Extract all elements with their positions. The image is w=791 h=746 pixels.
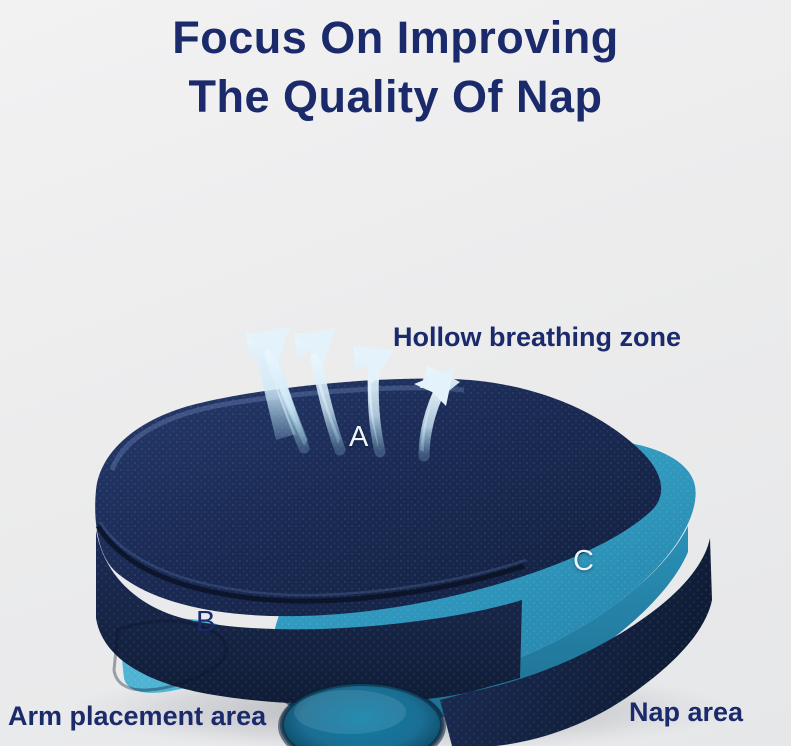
label-arm-placement-area: Arm placement area — [8, 701, 266, 732]
headline-line-1: Focus On Improving — [172, 12, 619, 63]
marker-b: B — [196, 606, 215, 639]
marker-a: A — [349, 421, 368, 454]
product-poster: Focus On Improving The Quality Of Nap — [0, 0, 791, 746]
label-nap-area: Nap area — [629, 697, 743, 728]
pillow-illustration — [0, 300, 791, 746]
label-hollow-breathing-zone: Hollow breathing zone — [393, 322, 681, 353]
breathing-hole-gloss — [294, 690, 406, 734]
page-title: Focus On Improving The Quality Of Nap — [0, 8, 791, 127]
marker-c: C — [573, 545, 594, 578]
headline-line-2: The Quality Of Nap — [0, 67, 791, 126]
